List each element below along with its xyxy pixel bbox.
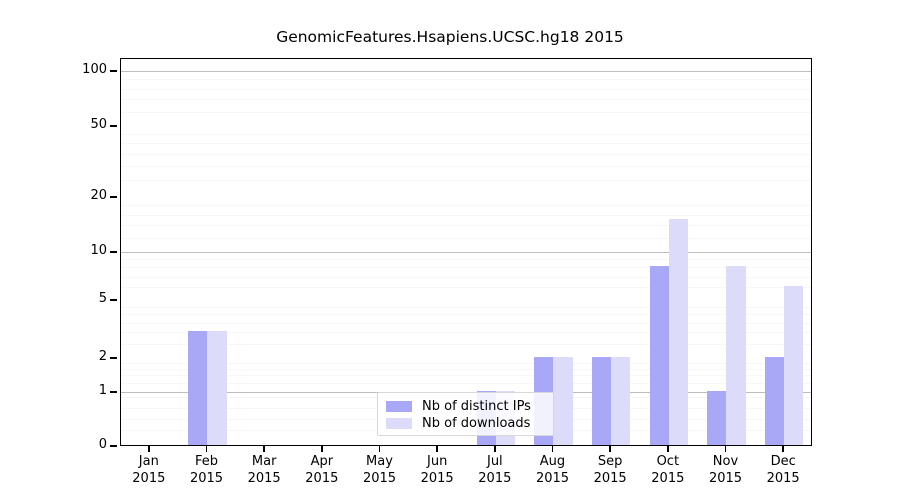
- x-axis-tick-mark: [263, 446, 264, 452]
- bar-downloads: [784, 286, 803, 445]
- bar-group: [698, 59, 756, 445]
- chart-legend: Nb of distinct IPsNb of downloads: [377, 392, 554, 436]
- bar-distinct-ips: [592, 357, 611, 445]
- x-axis-tick-label-month: Oct: [639, 454, 697, 469]
- bar-group: [525, 59, 583, 445]
- bar-group: [582, 59, 640, 445]
- x-axis-tick-label-year: 2015: [351, 471, 409, 486]
- y-axis-tick-label: 100: [82, 62, 107, 77]
- x-axis-tick: May2015: [351, 446, 409, 496]
- bar-group: [409, 59, 467, 445]
- x-axis-tick-label-year: 2015: [581, 471, 639, 486]
- legend-item: Nb of downloads: [386, 415, 546, 432]
- y-axis-tick-label: 1: [99, 383, 107, 398]
- x-axis-tick-label-year: 2015: [639, 471, 697, 486]
- x-axis-tick-mark: [321, 446, 322, 452]
- x-axis-tick: Oct2015: [639, 446, 697, 496]
- bar-distinct-ips: [188, 331, 207, 445]
- bar-downloads: [207, 331, 226, 445]
- y-axis-tick-label: 50: [90, 117, 107, 132]
- x-axis-tick-label-month: Jan: [120, 454, 178, 469]
- x-axis-tick-label-year: 2015: [697, 471, 755, 486]
- x-axis-tick-label-month: Feb: [178, 454, 236, 469]
- x-axis-tick-mark: [206, 446, 207, 452]
- x-axis-tick-label-year: 2015: [120, 471, 178, 486]
- x-axis-tick: Sep2015: [581, 446, 639, 496]
- x-axis-tick-label-year: 2015: [754, 471, 812, 486]
- y-axis-tick-label: 10: [90, 243, 107, 258]
- bar-group: [352, 59, 410, 445]
- y-axis-tick-mark: [110, 391, 117, 392]
- x-axis-tick-mark: [494, 446, 495, 452]
- bar-downloads: [553, 357, 572, 445]
- x-axis-tick-mark: [552, 446, 553, 452]
- plot-area: [120, 58, 812, 446]
- bar-group: [467, 59, 525, 445]
- bar-group: [755, 59, 813, 445]
- x-axis-tick-label-year: 2015: [524, 471, 582, 486]
- x-axis-tick-mark: [148, 446, 149, 452]
- x-axis-tick: Dec2015: [754, 446, 812, 496]
- bar-distinct-ips: [707, 391, 726, 445]
- bar-distinct-ips: [765, 357, 784, 445]
- x-axis-tick-label-month: Apr: [293, 454, 351, 469]
- x-axis-tick-mark: [782, 446, 783, 452]
- x-axis-tick: Nov2015: [697, 446, 755, 496]
- x-axis-tick-mark: [725, 446, 726, 452]
- x-axis-tick-label-month: May: [351, 454, 409, 469]
- x-axis-tick-label-month: Sep: [581, 454, 639, 469]
- x-axis-tick: Aug2015: [524, 446, 582, 496]
- x-axis-tick-label-year: 2015: [293, 471, 351, 486]
- y-axis-tick-label: 5: [99, 291, 107, 306]
- y-axis-tick-label: 2: [99, 349, 107, 364]
- x-axis-tick: Mar2015: [235, 446, 293, 496]
- y-axis-tick-label: 0: [99, 437, 107, 452]
- x-axis-tick-label-year: 2015: [466, 471, 524, 486]
- x-axis: Jan2015Feb2015Mar2015Apr2015May2015Jun20…: [120, 446, 812, 496]
- x-axis-tick-label-month: Nov: [697, 454, 755, 469]
- x-axis-tick: Feb2015: [178, 446, 236, 496]
- chart-figure: GenomicFeatures.Hsapiens.UCSC.hg18 2015 …: [0, 0, 900, 500]
- y-axis-tick-mark: [110, 125, 117, 126]
- bar-downloads: [611, 357, 630, 445]
- x-axis-tick-mark: [609, 446, 610, 452]
- bar-group: [640, 59, 698, 445]
- bar-group: [236, 59, 294, 445]
- y-axis-tick-mark: [110, 445, 117, 446]
- x-axis-tick-label-year: 2015: [178, 471, 236, 486]
- y-axis-tick-mark: [110, 357, 117, 358]
- y-axis-tick-mark: [110, 299, 117, 300]
- y-axis-tick-label: 20: [90, 188, 107, 203]
- y-axis: 1005020105210: [0, 58, 120, 446]
- legend-swatch-dls: [386, 418, 412, 429]
- legend-item: Nb of distinct IPs: [386, 398, 546, 415]
- x-axis-tick: Jan2015: [120, 446, 178, 496]
- y-axis-tick-mark: [110, 251, 117, 252]
- x-axis-tick-label-month: Dec: [754, 454, 812, 469]
- x-axis-tick-label-month: Mar: [235, 454, 293, 469]
- x-axis-tick-mark: [379, 446, 380, 452]
- legend-swatch-ips: [386, 401, 412, 412]
- bars-layer: [121, 59, 811, 445]
- x-axis-tick-label-month: Aug: [524, 454, 582, 469]
- x-axis-tick-mark: [667, 446, 668, 452]
- chart-title: GenomicFeatures.Hsapiens.UCSC.hg18 2015: [0, 28, 900, 46]
- bar-group: [179, 59, 237, 445]
- legend-label: Nb of downloads: [422, 416, 530, 431]
- bar-distinct-ips: [650, 266, 669, 445]
- x-axis-tick-label-year: 2015: [235, 471, 293, 486]
- x-axis-tick: Jun2015: [408, 446, 466, 496]
- x-axis-tick: Jul2015: [466, 446, 524, 496]
- bar-downloads: [669, 219, 688, 445]
- x-axis-tick-label-month: Jun: [408, 454, 466, 469]
- x-axis-tick-label-year: 2015: [408, 471, 466, 486]
- y-axis-tick-mark: [110, 70, 117, 71]
- x-axis-tick: Apr2015: [293, 446, 351, 496]
- bar-group: [294, 59, 352, 445]
- bar-downloads: [726, 266, 745, 445]
- legend-label: Nb of distinct IPs: [422, 399, 531, 414]
- bar-group: [121, 59, 179, 445]
- y-axis-tick-mark: [110, 196, 117, 197]
- x-axis-tick-label-month: Jul: [466, 454, 524, 469]
- x-axis-tick-mark: [436, 446, 437, 452]
